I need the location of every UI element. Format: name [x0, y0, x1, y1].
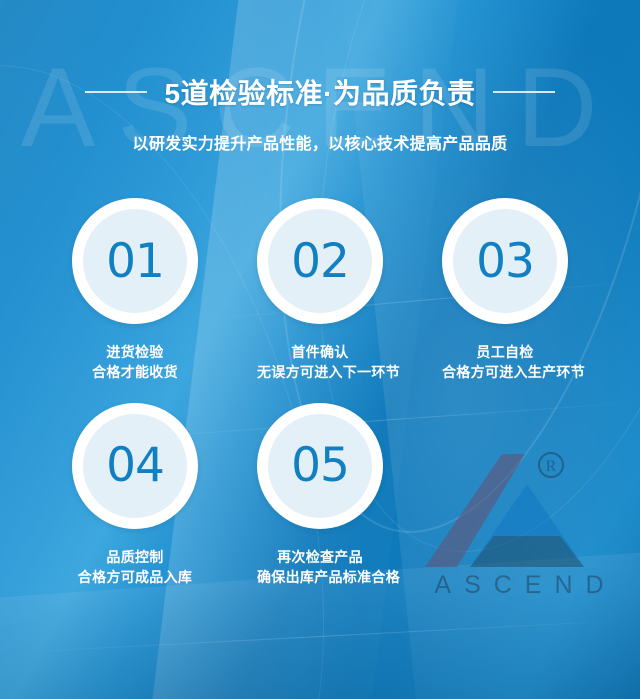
- step-badge-05: 05: [257, 403, 383, 529]
- step-badge-inner-03: 03: [453, 209, 557, 313]
- ascend-logo-icon: R: [419, 442, 619, 572]
- title-rule-left: [85, 91, 147, 93]
- logo-base-shape: [470, 536, 584, 567]
- registered-mark-icon: R: [539, 453, 563, 477]
- step-caption-line1-04: 品质控制: [72, 548, 198, 568]
- ascend-logo-watermark: R ASCEND: [419, 442, 619, 602]
- step-number-04: 04: [106, 442, 164, 489]
- step-item-01: 01 进货检验 合格才能收货: [72, 198, 198, 383]
- step-badge-02: 02: [257, 198, 383, 324]
- poster-root: ASCEND 5道检验标准·为品质负责 以研发实力提升产品性能，以核心技术提高产…: [0, 0, 640, 699]
- step-caption-line2-05: 确保出库产品标准合格: [257, 568, 383, 588]
- step-caption-05: 再次检查产品 确保出库产品标准合格: [257, 548, 383, 588]
- step-number-01: 01: [106, 238, 164, 285]
- header: 5道检验标准·为品质负责 以研发实力提升产品性能，以核心技术提高产品品质: [0, 72, 640, 154]
- step-number-03: 03: [476, 238, 534, 285]
- step-caption-line1-03: 员工自检: [442, 343, 568, 363]
- step-badge-03: 03: [442, 198, 568, 324]
- step-number-05: 05: [291, 442, 349, 489]
- step-caption-line2-04: 合格方可成品入库: [72, 568, 198, 588]
- page-subtitle: 以研发实力提升产品性能，以核心技术提高产品品质: [0, 130, 640, 154]
- page-title: 5道检验标准·为品质负责: [165, 72, 476, 112]
- logo-wordmark: ASCEND: [419, 573, 619, 598]
- step-item-05: 05 再次检查产品 确保出库产品标准合格: [257, 403, 383, 588]
- steps-row-top: 01 进货检验 合格才能收货 02 首件确认 无误方可进入下一环节: [0, 198, 640, 383]
- step-caption-02: 首件确认 无误方可进入下一环节: [257, 343, 383, 383]
- step-caption-04: 品质控制 合格方可成品入库: [72, 548, 198, 588]
- step-item-03: 03 员工自检 合格方可进入生产环节: [442, 198, 568, 383]
- step-caption-line2-02: 无误方可进入下一环节: [257, 363, 383, 383]
- step-item-02: 02 首件确认 无误方可进入下一环节: [257, 198, 383, 383]
- step-caption-line1-05: 再次检查产品: [257, 548, 383, 568]
- step-number-02: 02: [291, 238, 349, 285]
- step-badge-01: 01: [72, 198, 198, 324]
- title-row: 5道检验标准·为品质负责: [0, 72, 640, 112]
- step-caption-01: 进货检验 合格才能收货: [72, 343, 198, 383]
- step-badge-inner-01: 01: [83, 209, 187, 313]
- step-caption-line1-02: 首件确认: [257, 343, 383, 363]
- step-badge-inner-05: 05: [268, 414, 372, 518]
- step-caption-03: 员工自检 合格方可进入生产环节: [442, 343, 568, 383]
- step-caption-line2-03: 合格方可进入生产环节: [442, 363, 568, 383]
- step-caption-line2-01: 合格才能收货: [72, 363, 198, 383]
- svg-text:R: R: [546, 458, 557, 475]
- step-caption-line1-01: 进货检验: [72, 343, 198, 363]
- step-badge-04: 04: [72, 403, 198, 529]
- step-badge-inner-02: 02: [268, 209, 372, 313]
- step-badge-inner-04: 04: [83, 414, 187, 518]
- title-rule-right: [493, 91, 555, 93]
- step-item-04: 04 品质控制 合格方可成品入库: [72, 403, 198, 588]
- background-lower-shade: [0, 587, 640, 699]
